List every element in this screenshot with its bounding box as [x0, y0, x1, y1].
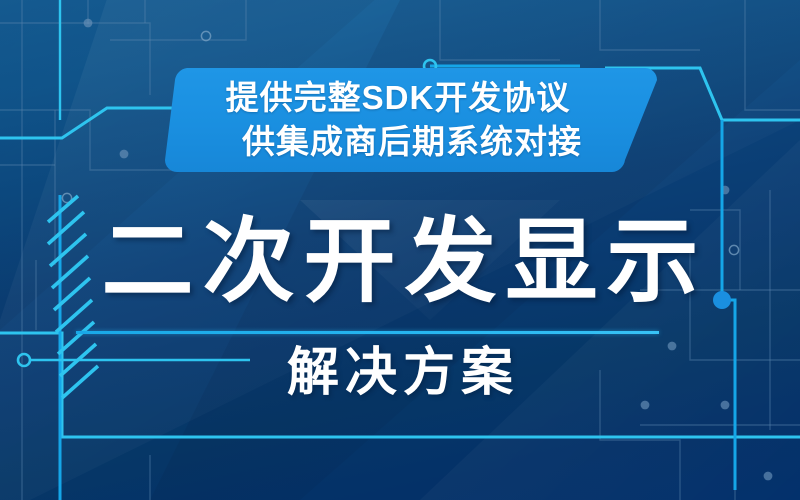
- banner-text: 提供完整SDK开发协议 供集成商后期系统对接: [143, 68, 657, 172]
- trace-muted-tr-1: [600, 0, 700, 50]
- node-ring-muted-2: [201, 31, 210, 40]
- trace-muted-tc-1: [110, 0, 246, 40]
- sheen-band-lower: [420, 140, 800, 500]
- node-muted-6: [764, 472, 773, 481]
- trace-muted-tr-5: [440, 0, 560, 60]
- banner-line-1: 提供完整SDK开发协议: [226, 76, 571, 120]
- poster-canvas: 提供完整SDK开发协议 供集成商后期系统对接 二次开发显示 解决方案: [0, 0, 800, 500]
- banner: 提供完整SDK开发协议 供集成商后期系统对接: [143, 68, 657, 172]
- banner-line-2: 供集成商后期系统对接: [242, 120, 582, 164]
- node-ring-muted-1: [62, 193, 71, 202]
- headline-divider: [76, 331, 659, 334]
- trace-muted-tl-1: [0, 23, 150, 95]
- node-muted-1: [84, 19, 93, 28]
- trace-muted-tr-2: [745, 0, 800, 110]
- node-muted-8: [120, 150, 129, 159]
- node-muted-7: [721, 186, 730, 195]
- subtitle: 解决方案: [0, 341, 800, 406]
- headline: 二次开发显示: [0, 216, 800, 308]
